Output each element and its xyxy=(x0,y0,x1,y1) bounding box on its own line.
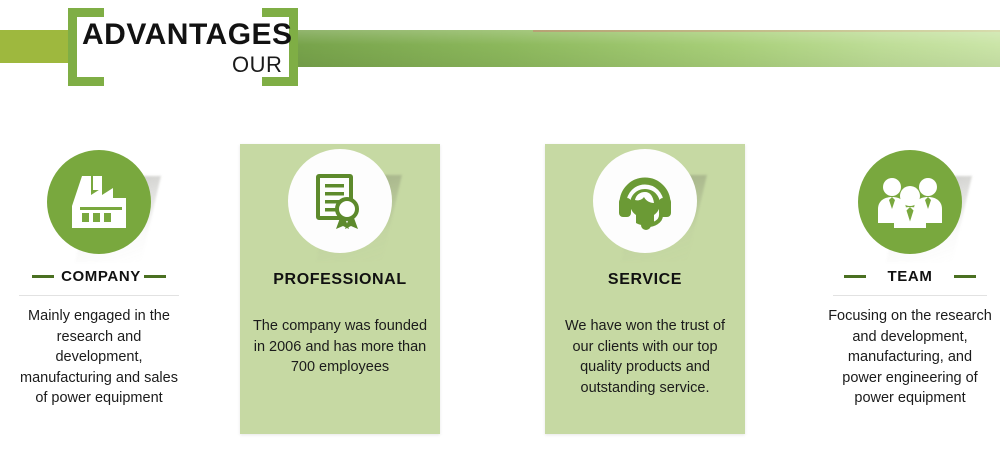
advantage-card-company[interactable]: COMPANY Mainly engaged in the research a… xyxy=(6,145,192,409)
icon-badge xyxy=(593,149,697,253)
card-body-text: Mainly engaged in the research and devel… xyxy=(13,306,184,409)
icon-badge xyxy=(288,149,392,253)
card-heading: PROFESSIONAL xyxy=(240,271,440,289)
card-heading-label: PROFESSIONAL xyxy=(273,271,406,289)
icon-container xyxy=(858,150,962,254)
advantages-card-row: COMPANY Mainly engaged in the research a… xyxy=(0,100,1000,465)
header-banner: ADVANTAGES OUR xyxy=(0,0,1000,100)
icon-container xyxy=(593,149,697,253)
card-heading-label: COMPANY xyxy=(61,268,141,285)
card-body-text: The company was founded in 2006 and has … xyxy=(248,316,432,378)
certificate-award-icon xyxy=(310,171,370,231)
icon-badge xyxy=(47,150,151,254)
advantage-card-professional[interactable]: PROFESSIONAL The company was founded in … xyxy=(240,144,440,434)
icon-container xyxy=(288,149,392,253)
icon-badge xyxy=(858,150,962,254)
card-divider xyxy=(19,295,179,296)
card-heading: TEAM xyxy=(820,268,1000,285)
card-body-text: Focusing on the research and development… xyxy=(827,306,993,409)
card-heading: SERVICE xyxy=(545,271,745,289)
dash-left-icon xyxy=(32,275,54,278)
advantage-card-team[interactable]: TEAM Focusing on the research and develo… xyxy=(820,145,1000,409)
page-subtitle: OUR xyxy=(232,52,282,78)
advantage-card-service[interactable]: SERVICE We have won the trust of our cli… xyxy=(545,144,745,434)
card-heading: COMPANY xyxy=(6,268,192,285)
factory-icon xyxy=(68,174,130,230)
card-body-text: We have won the trust of our clients wit… xyxy=(553,316,737,398)
card-heading-label: SERVICE xyxy=(608,271,682,289)
dash-right-icon xyxy=(954,275,976,278)
team-people-icon xyxy=(877,176,943,228)
headset-support-icon xyxy=(614,170,676,232)
card-divider xyxy=(833,295,988,296)
icon-container xyxy=(47,150,151,254)
dash-left-icon xyxy=(844,275,866,278)
card-heading-label: TEAM xyxy=(888,268,933,285)
dash-right-icon xyxy=(144,275,166,278)
page-title: ADVANTAGES xyxy=(82,18,293,52)
